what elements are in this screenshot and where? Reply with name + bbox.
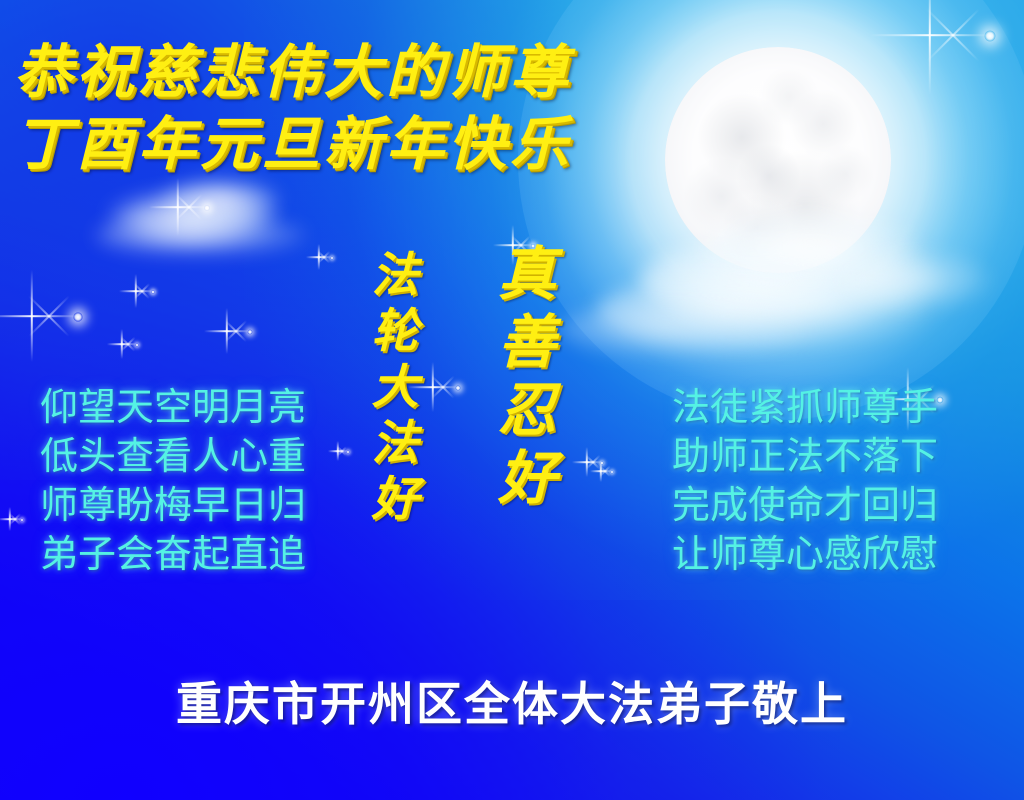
poem-line: 法徒紧抓师尊手 <box>672 383 938 432</box>
greeting-line: 恭祝慈悲伟大的师尊 <box>14 36 714 108</box>
poem-line: 低头查看人心重 <box>40 432 306 481</box>
poem-line: 助师正法不落下 <box>672 432 938 481</box>
slogan-char: 好 <box>489 444 565 512</box>
slogan-char: 大 <box>362 360 428 416</box>
poem-line: 弟子会奋起直追 <box>40 530 306 579</box>
slogan-char: 好 <box>362 472 428 528</box>
poem-line: 师尊盼梅早日归 <box>40 481 306 530</box>
poem-right: 法徒紧抓师尊手 助师正法不落下 完成使命才回归 让师尊心感欣慰 <box>672 383 938 579</box>
slogan-char: 忍 <box>489 376 565 444</box>
signature-text: 重庆市开州区全体大法弟子敬上 <box>0 668 1024 734</box>
poem-line: 仰望天空明月亮 <box>40 383 306 432</box>
poem-line: 让师尊心感欣慰 <box>672 530 938 579</box>
vertical-slogan-zhen-shan-ren-hao: 真 善 忍 好 <box>489 240 565 512</box>
poem-left: 仰望天空明月亮 低头查看人心重 师尊盼梅早日归 弟子会奋起直追 <box>40 383 306 579</box>
greeting-card-canvas: 恭祝慈悲伟大的师尊 丁酉年元旦新年快乐 法 轮 大 法 好 真 善 忍 好 仰望… <box>0 0 1024 800</box>
slogan-char: 法 <box>362 248 428 304</box>
slogan-char: 善 <box>489 308 565 376</box>
vertical-slogan-falun-dafa-hao: 法 轮 大 法 好 <box>362 248 428 528</box>
slogan-char: 法 <box>362 416 428 472</box>
slogan-char: 轮 <box>362 304 428 360</box>
poem-line: 完成使命才回归 <box>672 481 938 530</box>
greeting-headline: 恭祝慈悲伟大的师尊 丁酉年元旦新年快乐 <box>14 36 714 180</box>
slogan-char: 真 <box>489 240 565 308</box>
greeting-line: 丁酉年元旦新年快乐 <box>14 108 714 180</box>
